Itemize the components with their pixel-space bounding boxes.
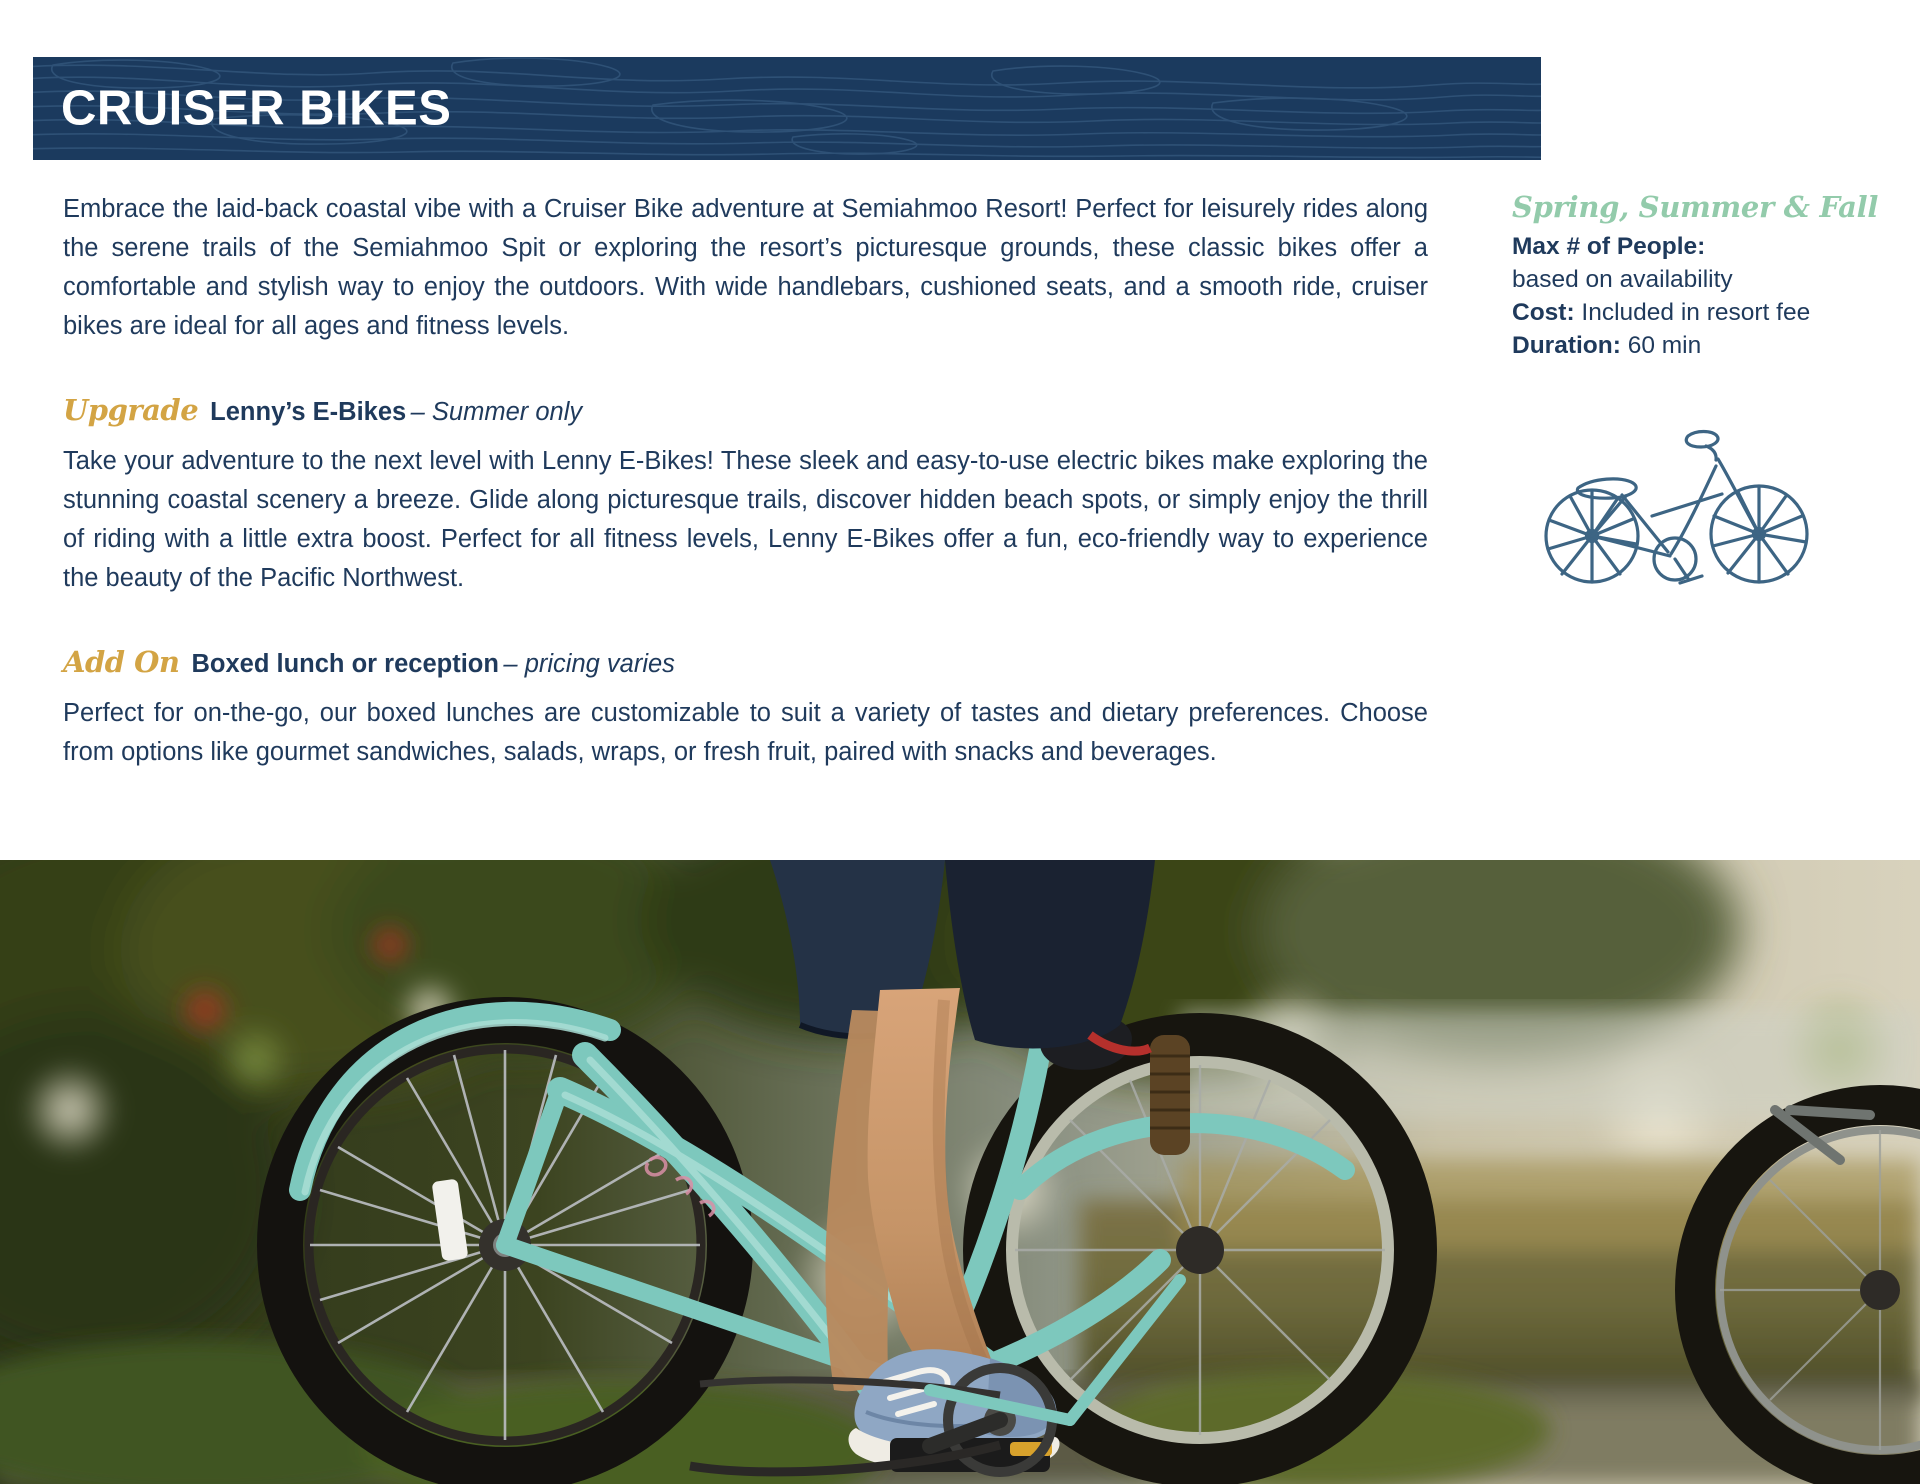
cost-value: Included in resort fee	[1581, 299, 1810, 326]
season-availability: Spring, Summer & Fall	[1512, 190, 1902, 224]
details-sidebar: Spring, Summer & Fall Max # of People: b…	[1512, 190, 1902, 594]
brochure-page: CRUISER BIKES Embrace the laid-back coas…	[0, 0, 1920, 1484]
hero-photo	[0, 860, 1920, 1484]
page-header-banner: CRUISER BIKES	[33, 57, 1541, 160]
intro-paragraph: Embrace the laid-back coastal vibe with …	[63, 190, 1428, 346]
duration-label: Duration:	[1512, 332, 1621, 359]
section-body-upgrade: Take your adventure to the next level wi…	[63, 442, 1428, 598]
duration-value: 60 min	[1628, 332, 1702, 359]
section-qualifier-upgrade: – Summer only	[411, 398, 582, 426]
section-body-addon: Perfect for on-the-go, our boxed lunches…	[63, 694, 1428, 772]
section-title-upgrade: Lenny’s E-Bikes	[210, 398, 406, 426]
section-tag-upgrade: Upgrade	[63, 393, 198, 427]
max-people-value: based on availability	[1512, 263, 1902, 296]
section-title-addon: Boxed lunch or reception	[192, 650, 499, 678]
hero-photo-image	[0, 860, 1920, 1484]
section-qualifier-addon: – pricing varies	[503, 650, 675, 678]
max-people-label: Max # of People:	[1512, 230, 1902, 263]
cost-row: Cost: Included in resort fee	[1512, 296, 1902, 329]
section-tag-addon: Add On	[63, 645, 180, 679]
section-heading-upgrade: UpgradeLenny’s E-Bikes – Summer only	[63, 390, 1428, 436]
cost-label: Cost:	[1512, 299, 1575, 326]
bicycle-icon-container	[1530, 404, 1830, 594]
section-heading-addon: Add OnBoxed lunch or reception – pricing…	[63, 642, 1428, 688]
bicycle-icon	[1530, 404, 1830, 594]
main-content-column: Embrace the laid-back coastal vibe with …	[63, 190, 1428, 772]
duration-row: Duration: 60 min	[1512, 329, 1902, 362]
page-title: CRUISER BIKES	[61, 84, 451, 133]
body-area: Embrace the laid-back coastal vibe with …	[0, 190, 1920, 860]
